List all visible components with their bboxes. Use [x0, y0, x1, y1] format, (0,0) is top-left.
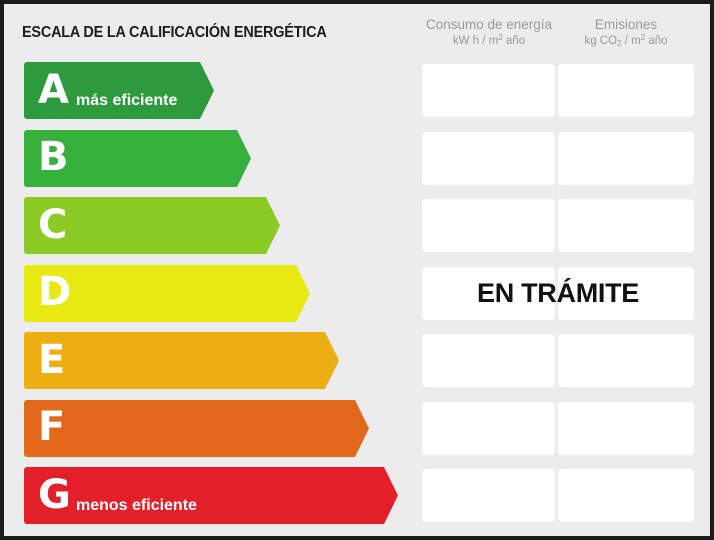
- emisiones-value-a[interactable]: [558, 64, 694, 117]
- column-header-emisiones-line1: Emisiones: [558, 16, 694, 34]
- rating-row-a: Amás eficiente: [4, 62, 710, 119]
- rating-band-c[interactable]: C: [24, 197, 280, 254]
- emisiones-value-b[interactable]: [558, 132, 694, 185]
- column-header-consumo: Consumo de energía kW h / m2 año: [422, 16, 556, 50]
- certificate-header: ESCALA DE LA CALIFICACIÓN ENERGÉTICA Con…: [4, 4, 710, 56]
- band-body: [24, 400, 343, 457]
- rating-row-g: Gmenos eficiente: [4, 467, 710, 524]
- band-note-g: menos eficiente: [76, 497, 197, 515]
- rating-band-g[interactable]: Gmenos eficiente: [24, 467, 398, 524]
- rating-row-b: B: [4, 130, 710, 187]
- band-arrow-tip-icon: [342, 400, 369, 457]
- band-arrow-tip-icon: [312, 332, 339, 389]
- rating-row-d: D: [4, 265, 710, 322]
- band-arrow-tip-icon: [283, 265, 310, 322]
- consumo-value-c[interactable]: [422, 199, 555, 252]
- emisiones-value-d[interactable]: [558, 267, 694, 320]
- column-header-consumo-line2: kW h / m2 año: [422, 34, 556, 50]
- consumo-value-e[interactable]: [422, 334, 555, 387]
- rating-row-e: E: [4, 332, 710, 389]
- rating-band-f[interactable]: F: [24, 400, 369, 457]
- consumo-value-f[interactable]: [422, 402, 555, 455]
- page-title: ESCALA DE LA CALIFICACIÓN ENERGÉTICA: [22, 24, 327, 42]
- rating-letter-c: C: [38, 205, 66, 245]
- band-body: [24, 467, 372, 524]
- band-arrow-tip-icon: [224, 130, 251, 187]
- rating-band-e[interactable]: E: [24, 332, 339, 389]
- consumo-value-a[interactable]: [422, 64, 555, 117]
- consumo-value-b[interactable]: [422, 132, 555, 185]
- emisiones-value-f[interactable]: [558, 402, 694, 455]
- band-note-a: más eficiente: [76, 92, 177, 110]
- consumo-value-d[interactable]: [422, 267, 555, 320]
- rating-letter-b: B: [38, 137, 68, 177]
- rating-letter-g: G: [38, 475, 70, 515]
- band-body: [24, 332, 313, 389]
- column-header-consumo-line1: Consumo de energía: [422, 16, 556, 34]
- column-header-emisiones-line2: kg CO2 / m2 año: [558, 34, 694, 50]
- energy-rating-certificate: ESCALA DE LA CALIFICACIÓN ENERGÉTICA Con…: [4, 4, 710, 536]
- rating-row-c: C: [4, 197, 710, 254]
- band-arrow-tip-icon: [371, 467, 398, 524]
- rating-band-a[interactable]: Amás eficiente: [24, 62, 214, 119]
- rating-letter-f: F: [38, 407, 64, 447]
- band-arrow-tip-icon: [253, 197, 280, 254]
- rating-band-b[interactable]: B: [24, 130, 251, 187]
- rating-band-d[interactable]: D: [24, 265, 310, 322]
- column-header-emisiones: Emisiones kg CO2 / m2 año: [558, 16, 694, 50]
- rating-letter-d: D: [38, 272, 70, 312]
- rating-row-f: F: [4, 400, 710, 457]
- emisiones-value-c[interactable]: [558, 199, 694, 252]
- rating-letter-a: A: [38, 70, 68, 110]
- band-arrow-tip-icon: [187, 62, 214, 119]
- consumo-value-g[interactable]: [422, 469, 555, 522]
- rating-letter-e: E: [38, 340, 64, 380]
- emisiones-value-e[interactable]: [558, 334, 694, 387]
- emisiones-value-g[interactable]: [558, 469, 694, 522]
